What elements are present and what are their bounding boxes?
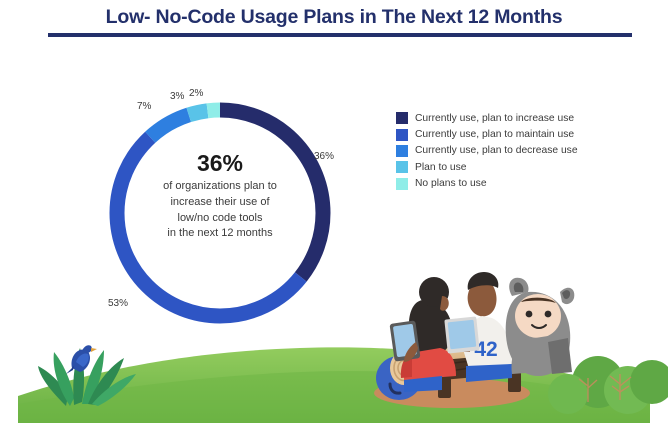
- person-astro-hoodie: [506, 278, 575, 376]
- illustration-scene: 42: [0, 0, 668, 423]
- infographic-canvas: Low- No-Code Usage Plans in The Next 12 …: [0, 0, 668, 423]
